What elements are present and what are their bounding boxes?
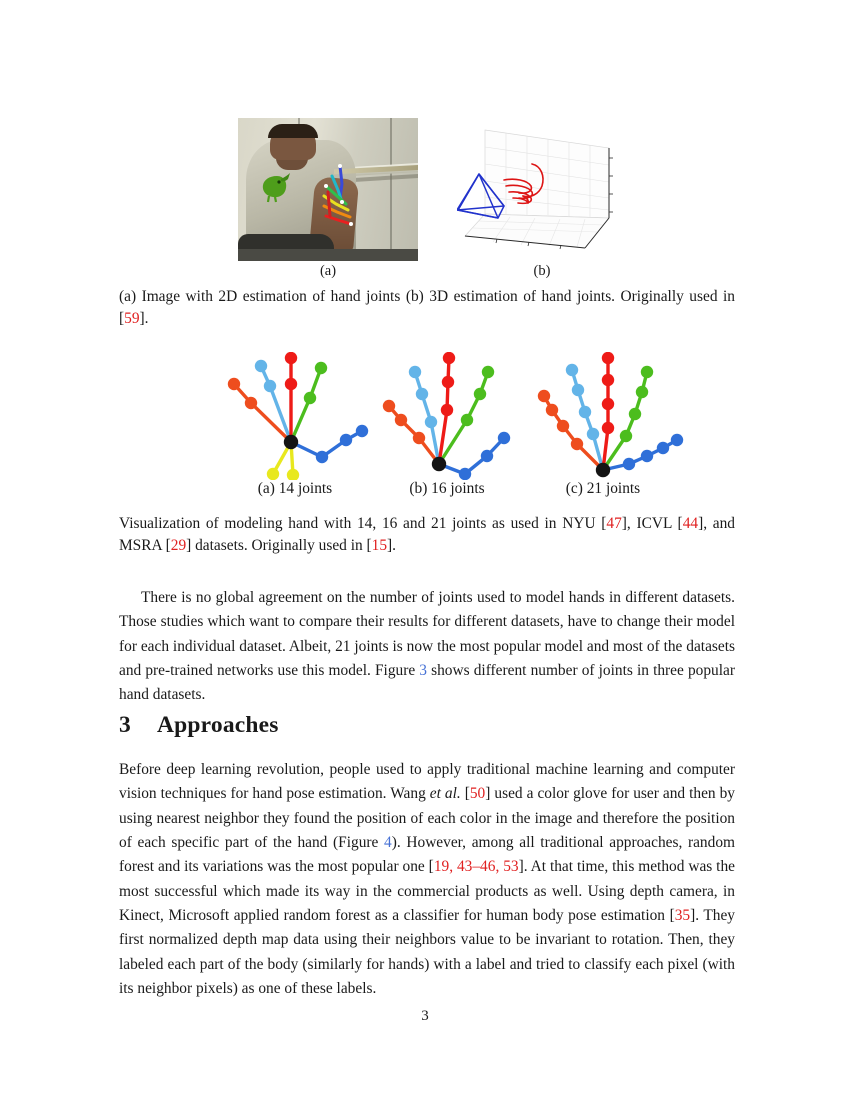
hand-model-21-joints <box>523 352 693 480</box>
figure-2b-subcaption: (b) <box>457 263 627 280</box>
citation-47[interactable]: 47 <box>606 515 621 532</box>
figure-2-caption-tail: ]. <box>140 310 149 327</box>
hand-model-14-joints <box>215 352 375 480</box>
figure-2a-photo <box>238 118 418 261</box>
section-title: Approaches <box>157 712 279 738</box>
figure-4-reference-link[interactable]: 4 <box>384 834 392 851</box>
figure-2-images: (a) (b) <box>119 118 735 268</box>
figure-2a-subcaption: (a) <box>238 263 418 280</box>
figure-3b-subcaption: (b) 16 joints <box>367 480 527 498</box>
citation-29[interactable]: 29 <box>171 537 186 554</box>
paper-page: (a) (b) (a) Image with 2D estimation of … <box>0 0 850 1100</box>
figure-3-subcaptions: (a) 14 joints (b) 16 joints (c) 21 joint… <box>119 480 735 504</box>
figure-3-caption-seg-2: ], ICVL [ <box>622 515 683 532</box>
figure-3-caption: Visualization of modeling hand with 14, … <box>119 513 735 557</box>
section-heading-approaches: 3Approaches <box>119 712 279 739</box>
paragraph-approaches: Before deep learning revolution, people … <box>119 758 735 1001</box>
citation-35[interactable]: 35 <box>675 907 690 924</box>
citation-group-random-forest[interactable]: 19, 43–46, 53 <box>434 858 519 875</box>
photo-2d-joint-skeleton-overlay <box>238 118 418 261</box>
citation-50[interactable]: 50 <box>470 785 485 802</box>
figure-3-caption-seg-1: Visualization of modeling hand with 14, … <box>119 515 606 532</box>
citation-44[interactable]: 44 <box>683 515 698 532</box>
citation-15[interactable]: 15 <box>372 537 387 554</box>
hand-model-16-joints <box>367 352 527 480</box>
figure-2b-3d-plot <box>457 118 627 261</box>
citation-59[interactable]: 59 <box>124 310 139 327</box>
page-number: 3 <box>0 1008 850 1025</box>
figure-3-reference-link[interactable]: 3 <box>419 662 427 679</box>
plot-3d-axes-svg <box>457 118 627 261</box>
figure-3-diagrams <box>119 352 735 480</box>
figure-2-caption: (a) Image with 2D estimation of hand joi… <box>119 286 735 330</box>
section-number: 3 <box>119 712 131 738</box>
figure-3a-subcaption: (a) 14 joints <box>215 480 375 498</box>
paragraph-joint-agreement: There is no global agreement on the numb… <box>119 586 735 708</box>
latin-abbrev-et-al: et al. <box>430 785 461 802</box>
figure-3-caption-seg-5: ]. <box>387 537 396 554</box>
figure-2-caption-text: (a) Image with 2D estimation of hand joi… <box>119 288 735 327</box>
figure-3-caption-seg-4: ] datasets. Originally used in [ <box>186 537 372 554</box>
paragraph-approaches-seg-2: [ <box>461 785 470 802</box>
figure-3c-subcaption: (c) 21 joints <box>523 480 683 498</box>
